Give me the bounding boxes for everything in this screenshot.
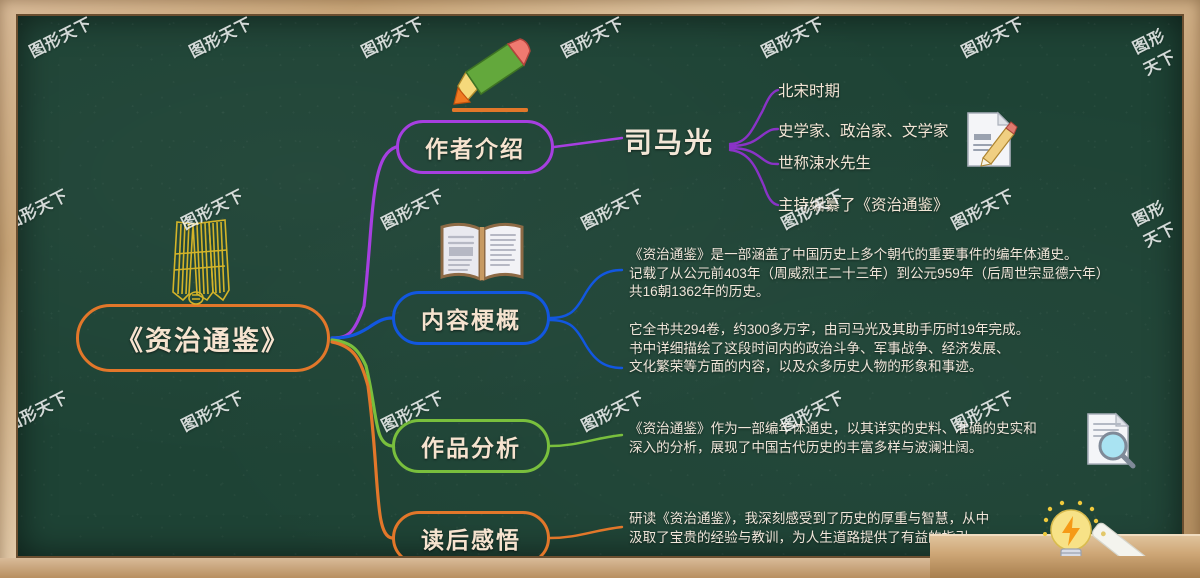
document-pencil-icon <box>958 108 1020 177</box>
connector-content-para-0 <box>550 270 622 318</box>
branch-node-reflect[interactable]: 读后感悟 <box>392 511 550 556</box>
document-search-icon <box>1080 410 1138 475</box>
root-node[interactable]: 《资治通鉴》 <box>76 304 330 372</box>
content-paragraph-0: 《资治通鉴》是一部涵盖了中国历史上多个朝代的重要事件的编年体通史。 记载了从公元… <box>629 246 1109 302</box>
branch-node-author[interactable]: 作者介绍 <box>396 120 554 174</box>
author-detail-2: 世称涑水先生 <box>778 151 871 173</box>
connector-root-analysis <box>332 340 392 446</box>
connector-reflect-para <box>550 527 622 538</box>
connector-sima-sub-3 <box>730 150 778 205</box>
chalkboard-frame: 《资治通鉴》 作者介绍 内容梗概 作品分析 读后感悟 司马光 北宋时期 史学家、… <box>0 0 1200 578</box>
author-detail-1: 史学家、政治家、文学家 <box>778 119 949 141</box>
connector-author-sima <box>554 138 622 147</box>
connector-content-para-1 <box>550 320 622 368</box>
author-detail-0: 北宋时期 <box>778 79 840 101</box>
board-ledge-left <box>0 558 940 578</box>
mindmap-stage: 《资治通鉴》 作者介绍 内容梗概 作品分析 读后感悟 司马光 北宋时期 史学家、… <box>18 16 1182 556</box>
pencil-icon <box>436 38 532 125</box>
chalkboard-surface: 《资治通鉴》 作者介绍 内容梗概 作品分析 读后感悟 司马光 北宋时期 史学家、… <box>18 16 1182 556</box>
branch-node-content[interactable]: 内容梗概 <box>392 291 550 345</box>
connector-analysis-para <box>550 435 622 446</box>
connector-root-author <box>332 147 396 338</box>
analysis-paragraph-0: 《资治通鉴》作为一部编年体通史，以其详实的史料、准确的史实和 深入的分析，展现了… <box>629 420 1037 457</box>
connector-sima-sub-0 <box>730 90 778 144</box>
connector-root-content <box>332 318 392 338</box>
scroll-icon <box>163 214 239 311</box>
content-paragraph-1: 它全书共294卷，约300多万字，由司马光及其助手历时19年完成。 书中详细描绘… <box>629 321 1029 377</box>
open-book-icon <box>438 219 526 290</box>
author-detail-3: 主持编纂了《资治通鉴》 <box>778 193 949 215</box>
branch-node-analysis[interactable]: 作品分析 <box>392 419 550 473</box>
chalk-stick-icon <box>1083 521 1182 556</box>
author-name-label: 司马光 <box>624 121 714 161</box>
